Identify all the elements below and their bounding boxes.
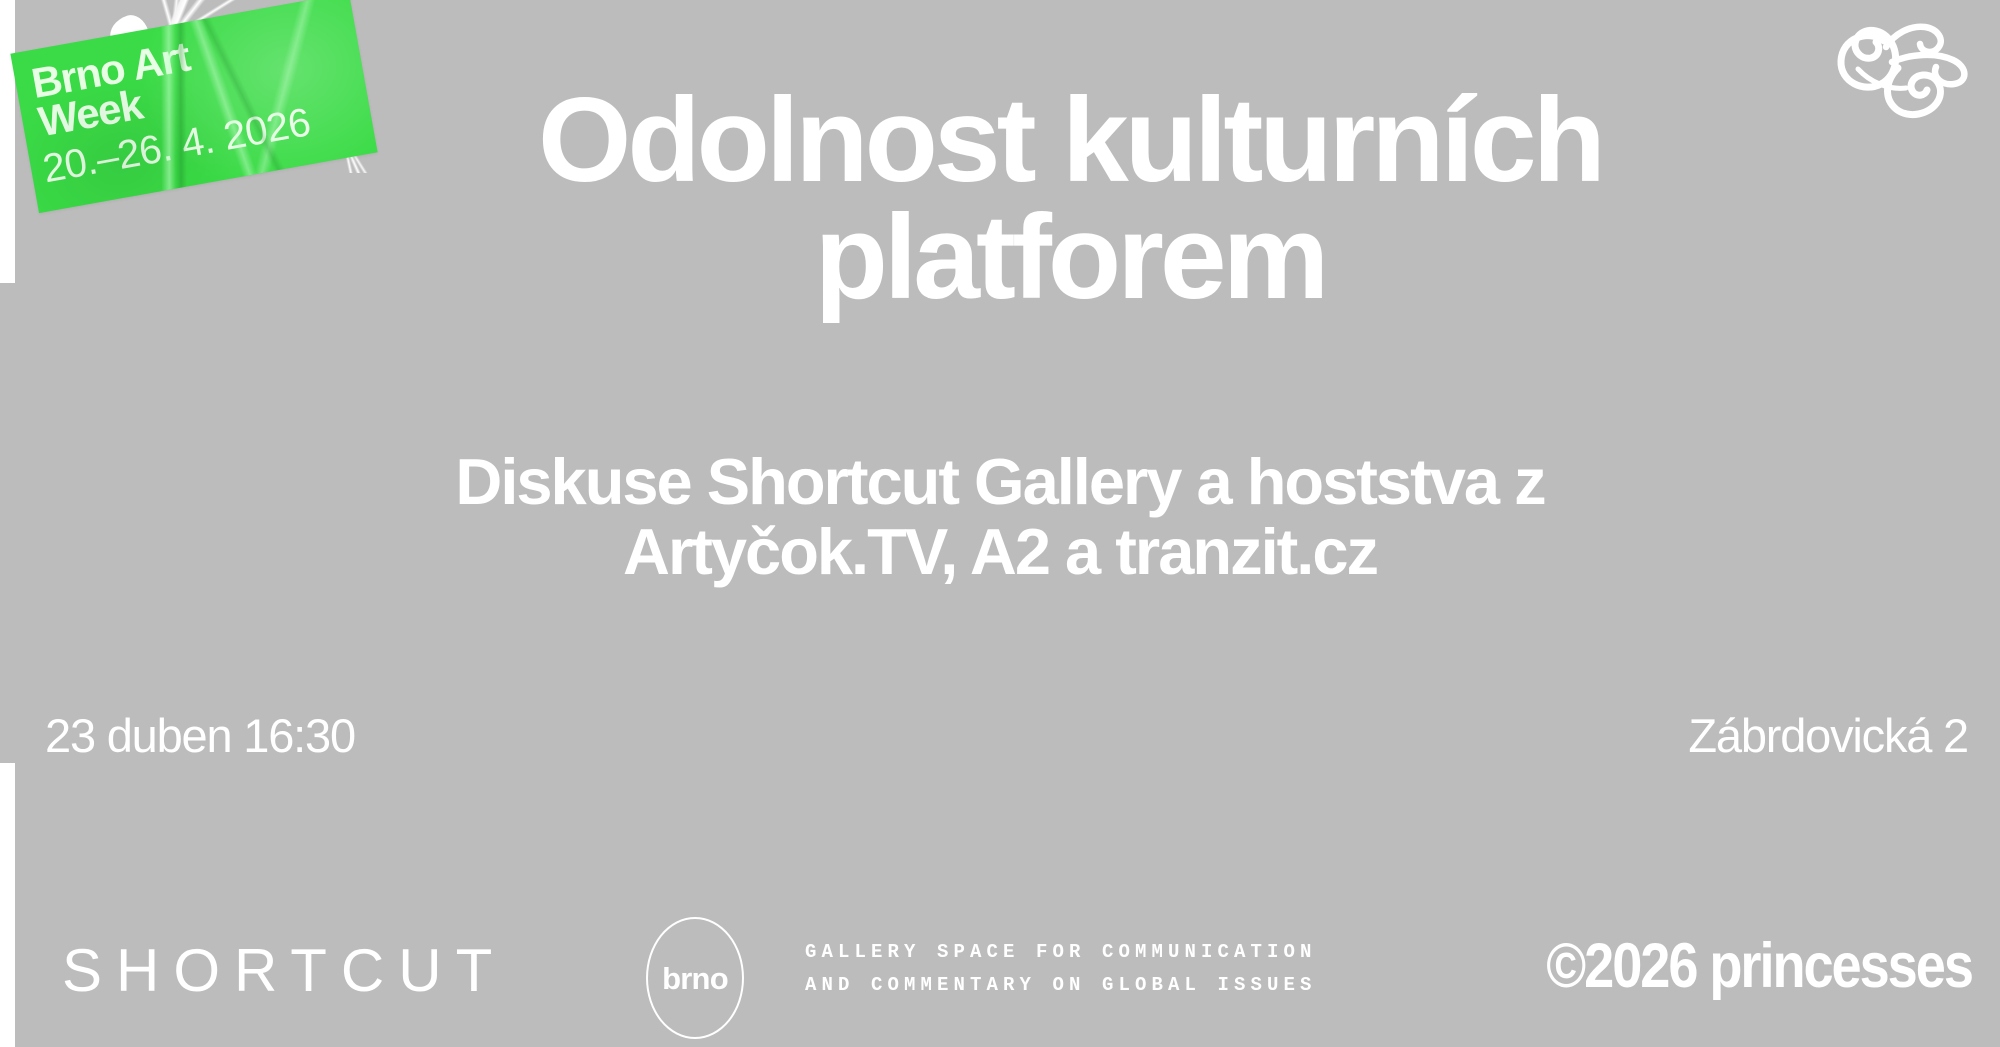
poster-footer: SHORTCUT brno GALLERY SPACE FOR COMMUNIC… bbox=[0, 912, 2000, 1047]
event-datetime: 23 duben 16:30 bbox=[45, 708, 355, 763]
brno-art-week-sticker: Brno Art Week 20.–26. 4. 2026 bbox=[18, 8, 368, 223]
sticker-body: Brno Art Week 20.–26. 4. 2026 bbox=[10, 0, 377, 213]
left-edge-strip-top bbox=[0, 0, 15, 283]
event-subtitle: Diskuse Shortcut Gallery a hoststva z Ar… bbox=[290, 447, 1710, 587]
brno-badge-label: brno bbox=[662, 963, 728, 994]
gallery-tagline-line-2: AND COMMENTARY ON GLOBAL ISSUES bbox=[805, 974, 1317, 996]
gallery-tagline-line-1: GALLERY SPACE FOR COMMUNICATION bbox=[805, 941, 1317, 963]
event-poster: Brno Art Week 20.–26. 4. 2026 Odolnost k… bbox=[0, 0, 2000, 1047]
gallery-tagline: GALLERY SPACE FOR COMMUNICATION AND COMM… bbox=[805, 936, 1317, 1001]
shortcut-wordmark: SHORTCUT bbox=[62, 936, 506, 1005]
copyright-notice: ©2026 princesses bbox=[1546, 930, 1972, 1002]
brno-circle-badge: brno bbox=[646, 917, 744, 1039]
princesses-monogram-icon bbox=[1828, 14, 1978, 124]
page-title: Odolnost kulturních platforem bbox=[380, 82, 1760, 315]
event-location: Zábrdovická 2 bbox=[1688, 708, 1968, 763]
